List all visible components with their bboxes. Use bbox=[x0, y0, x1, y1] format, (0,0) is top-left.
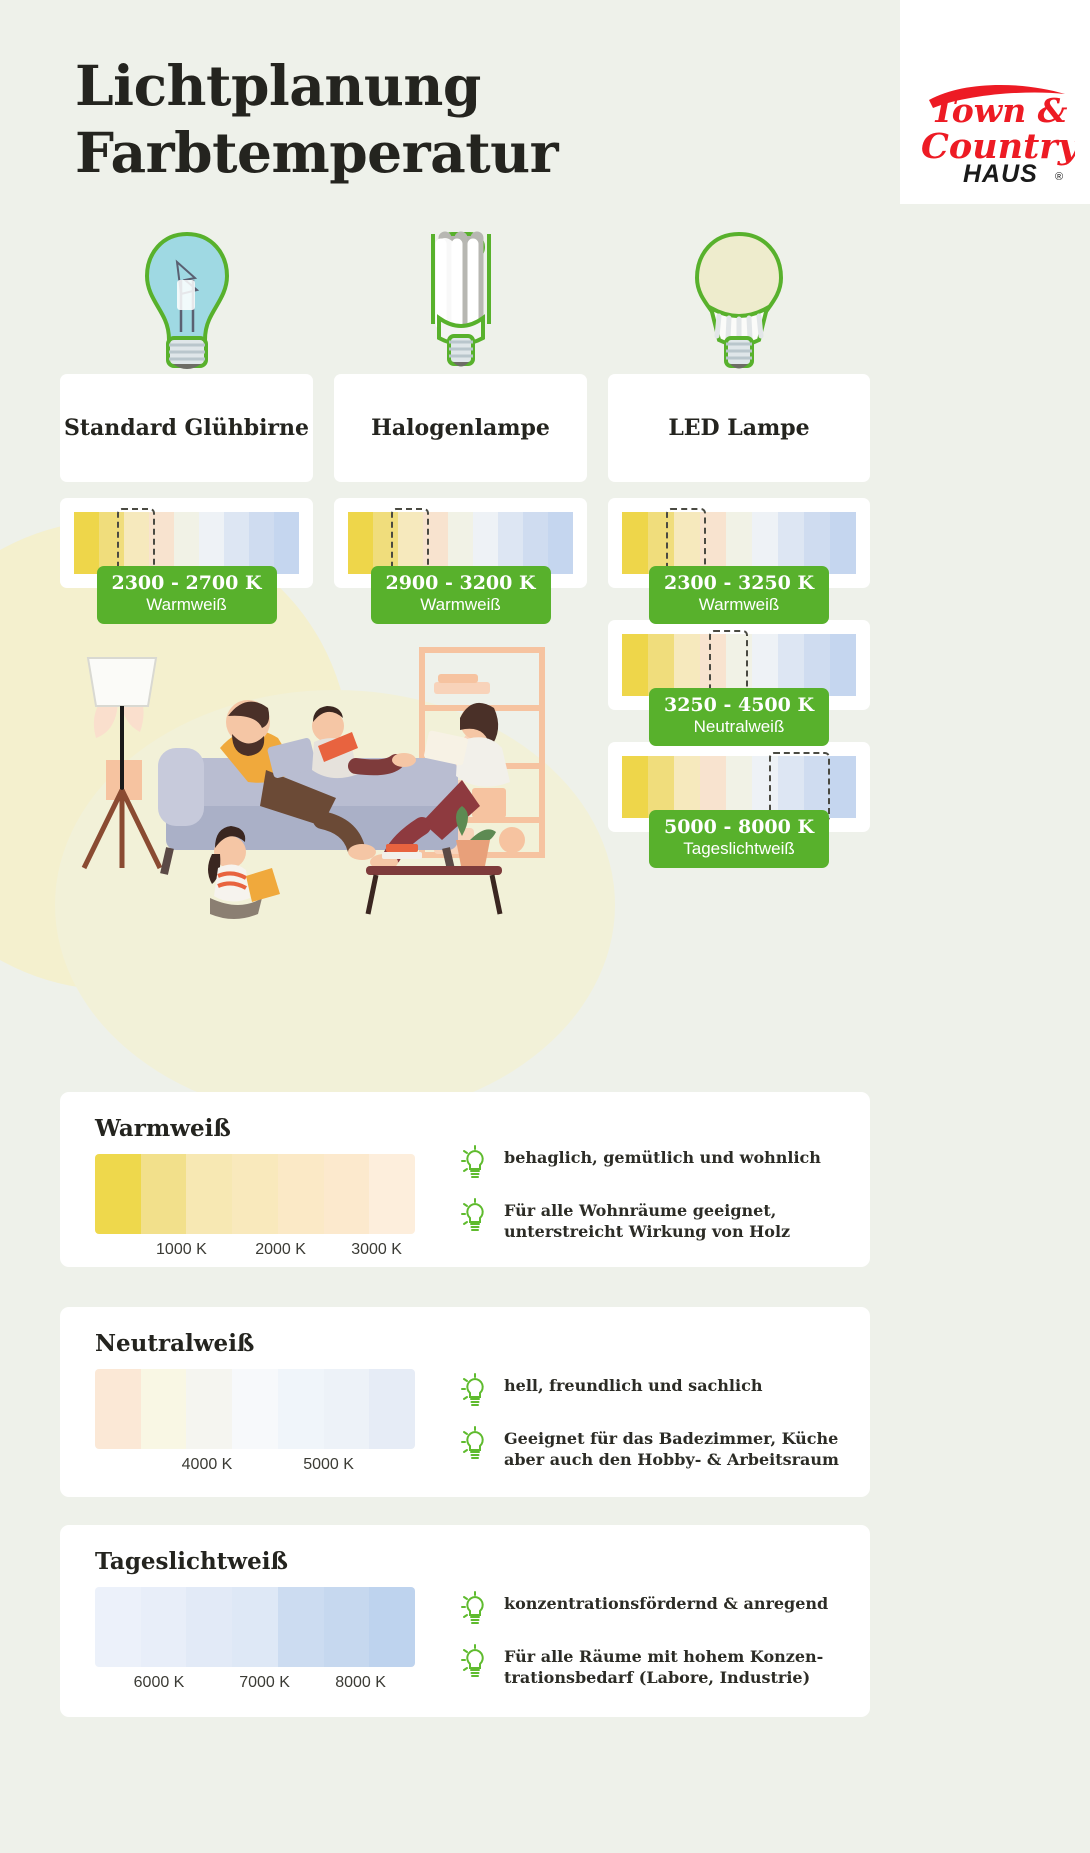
bullet-list: konzentrationsfördernd & anregend Für al… bbox=[460, 1593, 848, 1705]
lightbulb-icon bbox=[460, 1426, 494, 1465]
lamp-name-standard: Standard Glühbirne bbox=[64, 415, 309, 441]
list-item: Für alle Räume mit hohem Konzen- tration… bbox=[460, 1646, 848, 1689]
floor-lamp-illustration bbox=[84, 658, 160, 868]
logo-registered-mark: ® bbox=[1055, 171, 1063, 183]
lamp-name-halogen: Halogenlampe bbox=[371, 415, 550, 441]
tick-label: 3000 K bbox=[351, 1241, 402, 1259]
kelvin-badge: 3250 - 4500 K Neutralweiß bbox=[649, 688, 829, 746]
halogen-cfl-bulb-icon bbox=[334, 228, 587, 380]
kelvin-scale-neutralweiss: 4000 K 5000 K bbox=[95, 1369, 415, 1482]
bullet-text: konzentrationsfördernd & anregend bbox=[504, 1593, 828, 1614]
list-item: Für alle Wohnräume geeignet, unterstreic… bbox=[460, 1200, 848, 1243]
logo-haus-text: HAUS bbox=[963, 160, 1038, 188]
kelvin-label: Tageslichtweiß bbox=[664, 838, 814, 859]
led-bulb-icon bbox=[608, 228, 870, 380]
list-item: behaglich, gemütlich und wohnlich bbox=[460, 1147, 848, 1184]
kelvin-gradient-strip bbox=[622, 756, 856, 818]
lightbulb-icon bbox=[460, 1198, 494, 1237]
kelvin-value: 2300 - 2700 K bbox=[111, 573, 261, 594]
page-title-line-1: Lichtplanung bbox=[75, 53, 481, 118]
tick-label: 5000 K bbox=[303, 1456, 354, 1474]
family-reading-illustration bbox=[70, 630, 630, 930]
bullet-list: hell, freundlich und sachlich Geeignet f… bbox=[460, 1375, 848, 1487]
incandescent-bulb-icon bbox=[60, 228, 313, 380]
strip-card-led-0: 2300 - 3250 K Warmweiß bbox=[608, 498, 870, 588]
kelvin-gradient-strip bbox=[622, 512, 856, 574]
person-boy-illustration bbox=[312, 706, 416, 778]
kelvin-badge: 2300 - 2700 K Warmweiß bbox=[96, 566, 276, 624]
bullet-list: behaglich, gemütlich und wohnlich Für al… bbox=[460, 1147, 848, 1259]
lamp-column-led: LED Lampe 2300 - 3250 K Warmweiß bbox=[608, 228, 870, 832]
page-title: Lichtplanung Farbtemperatur bbox=[75, 52, 558, 186]
kelvin-label: Warmweiß bbox=[664, 594, 814, 615]
kelvin-scale-warmweiss: 1000 K 2000 K 3000 K bbox=[95, 1154, 415, 1267]
list-item: Geeignet für das Badezimmer, Küche aber … bbox=[460, 1428, 848, 1471]
list-item: hell, freundlich und sachlich bbox=[460, 1375, 848, 1412]
bullet-text: hell, freundlich und sachlich bbox=[504, 1375, 762, 1396]
tick-label: 7000 K bbox=[239, 1674, 290, 1692]
strip-card-led-1: 3250 - 4500 K Neutralweiß bbox=[608, 620, 870, 710]
kelvin-tick-labels: 4000 K 5000 K bbox=[95, 1456, 415, 1482]
tick-label: 2000 K bbox=[255, 1241, 306, 1259]
tick-label: 4000 K bbox=[182, 1456, 233, 1474]
kelvin-label: Neutralweiß bbox=[664, 716, 814, 737]
lamp-name-card-halogen: Halogenlampe bbox=[334, 374, 587, 482]
lamp-name-card-led: LED Lampe bbox=[608, 374, 870, 482]
kelvin-badge: 2900 - 3200 K Warmweiß bbox=[370, 566, 550, 624]
list-item: konzentrationsfördernd & anregend bbox=[460, 1593, 848, 1630]
brand-logo: Town & Country HAUS ® bbox=[900, 0, 1090, 204]
kelvin-scale-bar bbox=[95, 1154, 415, 1234]
lightbulb-icon bbox=[460, 1373, 494, 1412]
kelvin-tick-labels: 6000 K 7000 K 8000 K bbox=[95, 1674, 415, 1700]
lightbulb-icon bbox=[460, 1644, 494, 1683]
kelvin-tick-labels: 1000 K 2000 K 3000 K bbox=[95, 1241, 415, 1267]
bullet-text: Für alle Wohnräume geeignet, unterstreic… bbox=[504, 1200, 790, 1243]
panel-neutralweiss: Neutralweiß 4000 K 5000 K hell, freundli… bbox=[60, 1307, 870, 1497]
panel-title: Tageslichtweiß bbox=[95, 1548, 288, 1575]
kelvin-gradient-strip bbox=[622, 634, 856, 696]
logo-artwork: Town & Country HAUS ® bbox=[915, 70, 1075, 190]
kelvin-value: 2900 - 3200 K bbox=[385, 573, 535, 594]
bullet-text: Für alle Räume mit hohem Konzen- tration… bbox=[504, 1646, 823, 1689]
panel-title: Neutralweiß bbox=[95, 1330, 254, 1357]
tick-label: 6000 K bbox=[134, 1674, 185, 1692]
lamp-name-led: LED Lampe bbox=[668, 415, 809, 441]
kelvin-value: 2300 - 3250 K bbox=[664, 573, 814, 594]
kelvin-gradient-strip bbox=[74, 512, 299, 574]
tick-label: 8000 K bbox=[335, 1674, 386, 1692]
kelvin-label: Warmweiß bbox=[385, 594, 535, 615]
panel-tageslichtweiss: Tageslichtweiß 6000 K 7000 K 8000 K konz… bbox=[60, 1525, 870, 1717]
town-country-haus-logo-icon: Town & Country HAUS ® bbox=[915, 70, 1075, 190]
strip-card-standard-0: 2300 - 2700 K Warmweiß bbox=[60, 498, 313, 588]
kelvin-gradient-strip bbox=[348, 512, 573, 574]
page-title-line-2: Farbtemperatur bbox=[75, 120, 558, 185]
kelvin-badge: 2300 - 3250 K Warmweiß bbox=[649, 566, 829, 624]
lamp-name-card-standard: Standard Glühbirne bbox=[60, 374, 313, 482]
lamp-column-halogen: Halogenlampe 2900 - 3200 K Warmweiß bbox=[334, 228, 587, 588]
kelvin-label: Warmweiß bbox=[111, 594, 261, 615]
kelvin-badge: 5000 - 8000 K Tageslichtweiß bbox=[649, 810, 829, 868]
tick-label: 1000 K bbox=[156, 1241, 207, 1259]
lamp-column-standard: Standard Glühbirne 2300 - 2700 K Warmwei… bbox=[60, 228, 313, 588]
strip-card-led-2: 5000 - 8000 K Tageslichtweiß bbox=[608, 742, 870, 832]
lightbulb-icon bbox=[460, 1591, 494, 1630]
panel-warmweiss: Warmweiß 1000 K 2000 K 3000 K behaglich,… bbox=[60, 1092, 870, 1267]
panel-title: Warmweiß bbox=[95, 1115, 231, 1142]
kelvin-scale-bar bbox=[95, 1369, 415, 1449]
kelvin-value: 5000 - 8000 K bbox=[664, 817, 814, 838]
logo-town-text: Town & bbox=[931, 91, 1068, 130]
lightbulb-icon bbox=[460, 1145, 494, 1184]
strip-card-halogen-0: 2900 - 3200 K Warmweiß bbox=[334, 498, 587, 588]
bullet-text: behaglich, gemütlich und wohnlich bbox=[504, 1147, 821, 1168]
kelvin-value: 3250 - 4500 K bbox=[664, 695, 814, 716]
bullet-text: Geeignet für das Badezimmer, Küche aber … bbox=[504, 1428, 839, 1471]
kelvin-scale-bar bbox=[95, 1587, 415, 1667]
kelvin-scale-tageslichtweiss: 6000 K 7000 K 8000 K bbox=[95, 1587, 415, 1700]
